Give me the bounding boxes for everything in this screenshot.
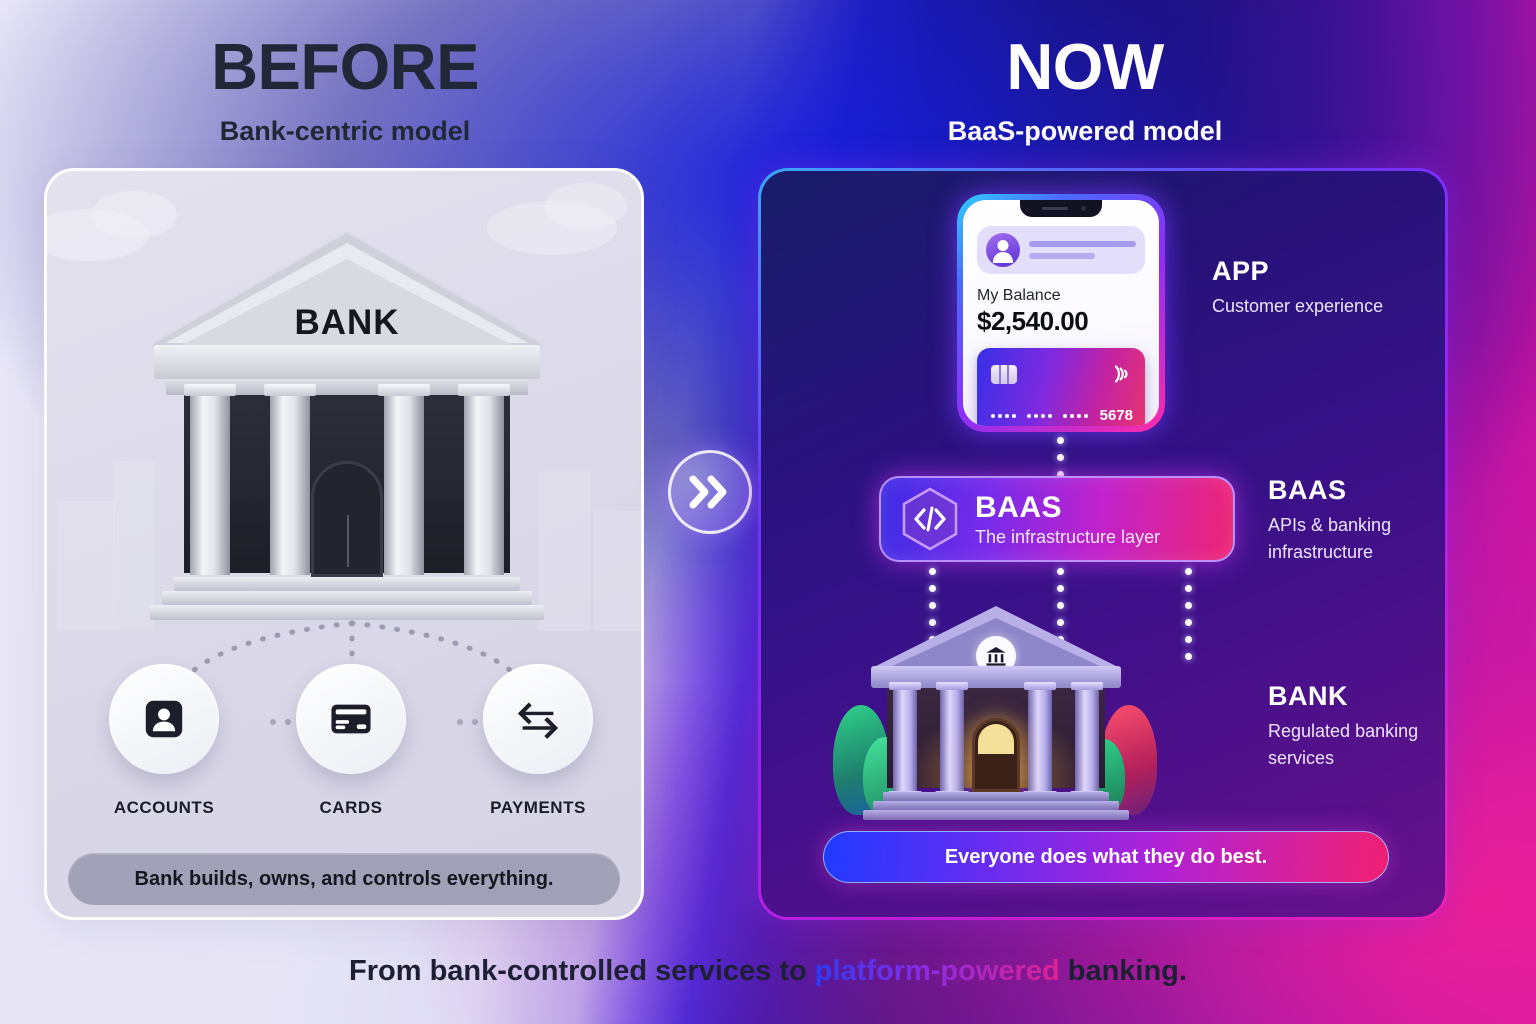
- label-bank: BANK Regulated banking services: [1268, 683, 1443, 772]
- footer-highlight: platform-powered: [815, 955, 1060, 987]
- contactless-nfc-icon: [1109, 362, 1133, 386]
- profile-placeholder-bars: [1029, 241, 1136, 259]
- label-baas-title: BAAS: [1268, 477, 1443, 504]
- baas-bar-title: BAAS: [975, 493, 1160, 523]
- credit-card-icon: [328, 696, 374, 742]
- card-number-row: 5678: [991, 407, 1133, 424]
- neon-bank-illustration: [841, 596, 1151, 831]
- phone-screen: My Balance $2,540.00 5678: [963, 200, 1159, 426]
- connector-baas-to-bank-right: [1185, 568, 1192, 660]
- connector-phone-to-baas: [1057, 437, 1064, 478]
- now-heading-group: NOW BaaS-powered model: [800, 34, 1370, 145]
- label-app-title: APP: [1212, 258, 1402, 285]
- label-baas: BAAS APIs & banking infrastructure: [1268, 477, 1443, 566]
- code-hexagon-icon: [901, 487, 959, 551]
- label-app: APP Customer experience: [1212, 258, 1402, 320]
- footer-text-after: banking.: [1060, 955, 1187, 987]
- classic-bank-illustration: BANK: [152, 233, 542, 633]
- node-accounts-label: ACCOUNTS: [69, 798, 259, 818]
- label-bank-desc: Regulated banking services: [1268, 718, 1443, 772]
- before-heading-group: BEFORE Bank-centric model: [60, 34, 630, 145]
- before-caption: Bank builds, owns, and controls everythi…: [68, 853, 620, 905]
- card-chip-icon: [991, 365, 1017, 384]
- virtual-card[interactable]: 5678: [977, 348, 1145, 426]
- before-title: BEFORE: [60, 34, 630, 99]
- phone-notch: [1020, 200, 1102, 217]
- now-title: NOW: [800, 34, 1370, 99]
- before-panel: BANK ACCOUNTS: [44, 168, 644, 920]
- card-last4: 5678: [1100, 407, 1133, 424]
- node-payments[interactable]: [483, 664, 593, 774]
- node-cards[interactable]: [296, 664, 406, 774]
- now-subtitle: BaaS-powered model: [800, 118, 1370, 145]
- transfer-arrows-icon: [515, 696, 561, 742]
- node-accounts[interactable]: [109, 664, 219, 774]
- bank-pediment-sign: BANK: [152, 303, 542, 343]
- double-chevron-right-icon: [687, 473, 733, 511]
- footer-tagline: From bank-controlled services to platfor…: [0, 955, 1536, 988]
- node-payments-label: PAYMENTS: [443, 798, 633, 818]
- label-app-desc: Customer experience: [1212, 293, 1402, 320]
- baas-bar-texts: BAAS The infrastructure layer: [975, 493, 1160, 546]
- label-baas-desc: APIs & banking infrastructure: [1268, 512, 1443, 566]
- bank-columns-icon: [984, 644, 1008, 668]
- transition-arrow-badge: [668, 450, 752, 534]
- label-bank-title: BANK: [1268, 683, 1443, 710]
- app-profile-row: [977, 226, 1145, 274]
- user-avatar-icon: [986, 233, 1020, 267]
- account-person-icon: [141, 696, 187, 742]
- baas-bar-subtitle: The infrastructure layer: [975, 528, 1160, 546]
- node-cards-label: CARDS: [256, 798, 446, 818]
- baas-layer-bar[interactable]: BAAS The infrastructure layer: [879, 476, 1235, 562]
- now-caption: Everyone does what they do best.: [823, 831, 1389, 883]
- balance-label: My Balance: [977, 287, 1145, 305]
- before-subtitle: Bank-centric model: [60, 118, 630, 145]
- phone-mockup[interactable]: My Balance $2,540.00 5678: [957, 194, 1165, 432]
- balance-amount: $2,540.00: [977, 306, 1145, 337]
- footer-text-before: From bank-controlled services to: [349, 955, 815, 987]
